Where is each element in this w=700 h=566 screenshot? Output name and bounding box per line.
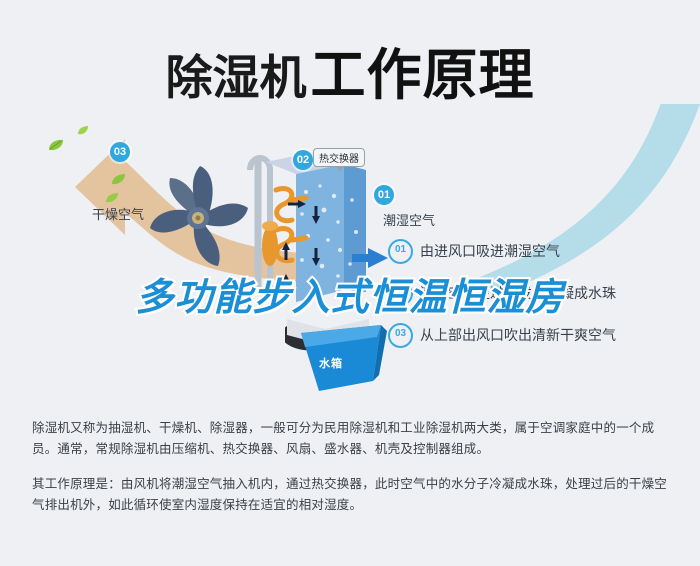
step-number-03: 03 — [388, 323, 413, 348]
list-item: 03 从上部出风口吹出清新干爽空气 — [388, 324, 698, 346]
water-tank-label: 水箱 — [319, 355, 343, 371]
list-item: 01 由进风口吸进潮湿空气 — [388, 240, 698, 262]
page-root: 除湿机工作原理 — [0, 0, 700, 566]
page-title-part2: 工作原理 — [310, 44, 534, 106]
body-copy: 除湿机又称为抽湿机、干燥机、除湿器，一般可分为民用除湿机和工业除湿机两大类，属于… — [32, 418, 672, 530]
step-text-03: 从上部出风口吹出清新干爽空气 — [420, 325, 616, 345]
dry-air-label: 干燥空气 — [92, 204, 144, 223]
step-text-01: 由进风口吸进潮湿空气 — [420, 241, 560, 261]
step-number-01: 01 — [388, 239, 413, 264]
overlay-watermark-label: 多功能步入式恒温恒湿房 — [135, 277, 564, 319]
heat-exchanger-callout: 热交换器 — [313, 148, 365, 167]
leaf-icon — [112, 172, 126, 190]
body-paragraph-1: 除湿机又称为抽湿机、干燥机、除湿器，一般可分为民用除湿机和工业除湿机两大类，属于… — [32, 418, 672, 460]
diagram-badge-02: 02 — [293, 150, 313, 170]
leaf-icon — [78, 122, 89, 140]
page-title: 除湿机工作原理 — [0, 30, 700, 110]
leaf-icon — [48, 138, 64, 156]
diagram-badge-01: 01 — [374, 185, 394, 205]
overlay-watermark-text: 多功能步入式恒温恒湿房 — [0, 266, 700, 321]
diagram-badge-03: 03 — [110, 142, 130, 162]
page-title-part1: 除湿机 — [165, 51, 306, 104]
body-paragraph-2: 其工作原理是：由风机将潮湿空气抽入机内，通过热交换器，此时空气中的水分子冷凝成水… — [32, 474, 672, 516]
humid-air-label: 潮湿空气 — [383, 210, 435, 229]
